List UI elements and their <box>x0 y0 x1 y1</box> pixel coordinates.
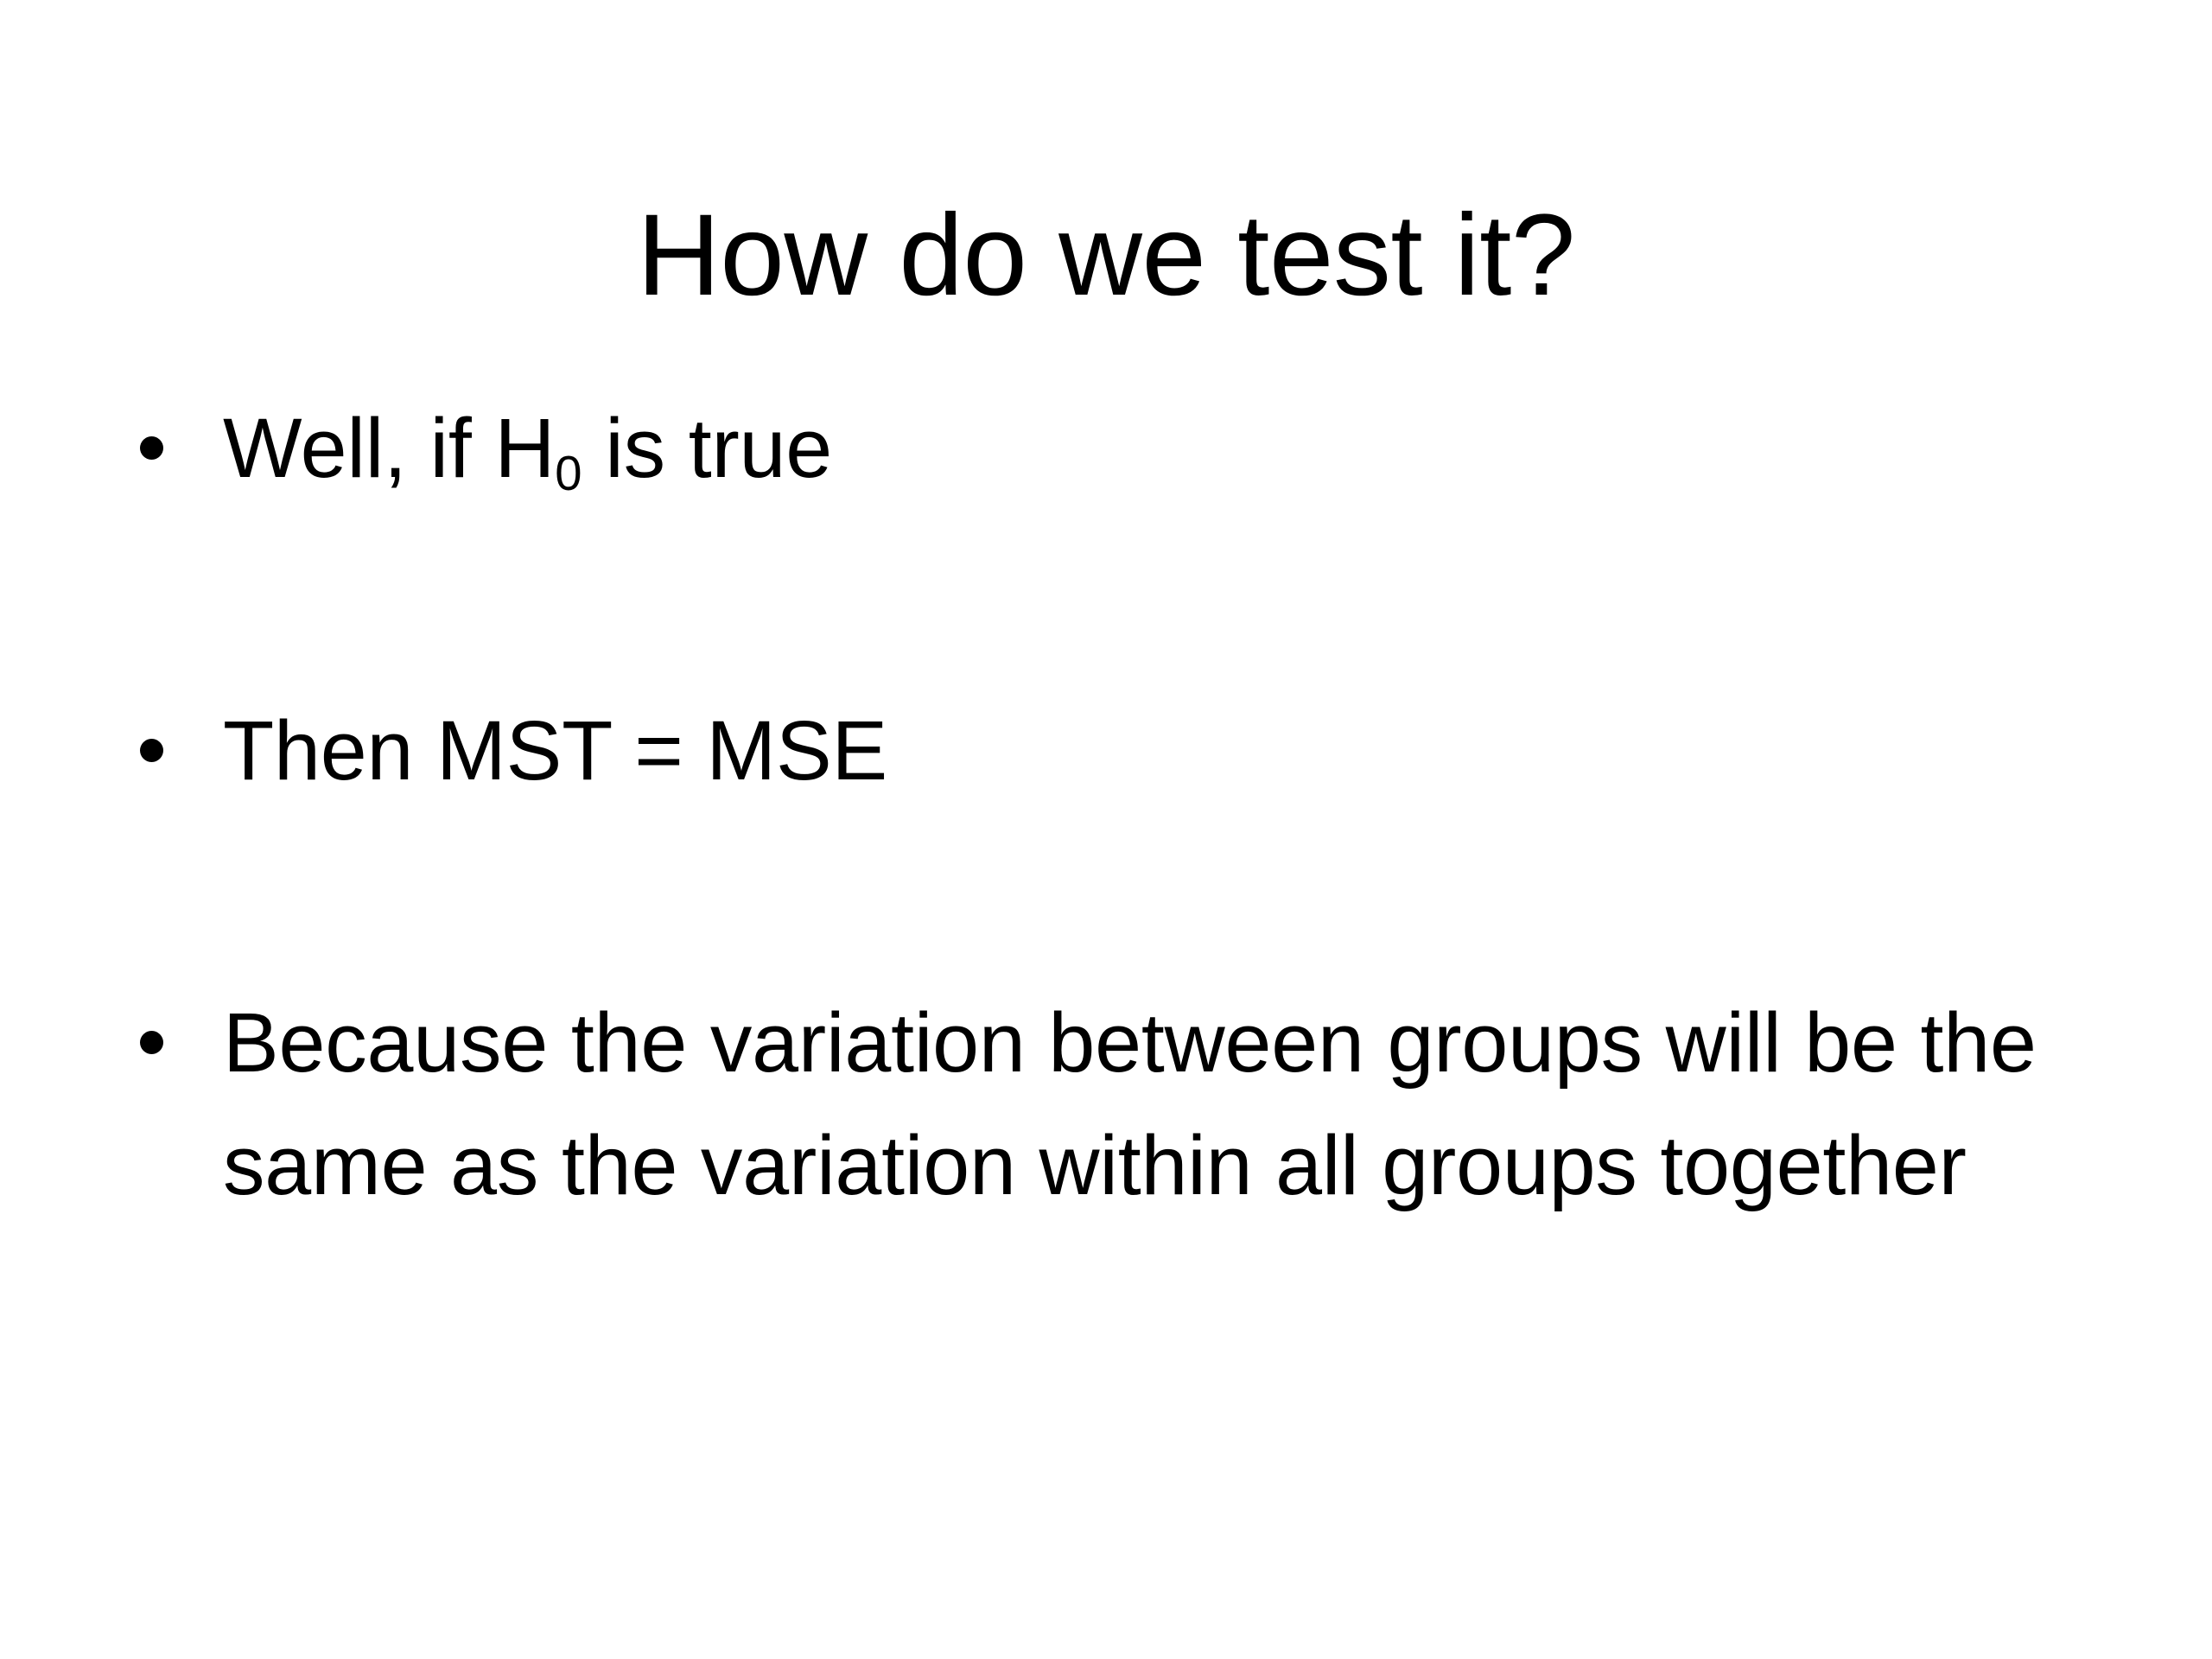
list-item-text: Then MST = MSE <box>223 690 2074 812</box>
bullet-point-icon <box>140 739 163 762</box>
presentation-slide: How do we test it? Well, if H0 is true T… <box>0 0 2212 1659</box>
list-item-text-after: is true <box>582 401 833 495</box>
page-title: How do we test it? <box>0 188 2212 322</box>
list-item-subscript: 0 <box>555 446 582 500</box>
bullet-point-icon <box>140 436 163 460</box>
list-item-text: Because the variation between groups wil… <box>223 982 2074 1227</box>
list-item-text: Well, if H0 is true <box>223 387 2074 522</box>
list-item-text-before: Well, if H <box>223 401 555 495</box>
list-item: Then MST = MSE <box>130 690 2074 812</box>
list-item: Because the variation between groups wil… <box>130 982 2074 1227</box>
list-item: Well, if H0 is true <box>130 387 2074 522</box>
bullet-list: Well, if H0 is true Then MST = MSE Becau… <box>130 387 2074 1227</box>
bullet-point-icon <box>140 1031 163 1054</box>
